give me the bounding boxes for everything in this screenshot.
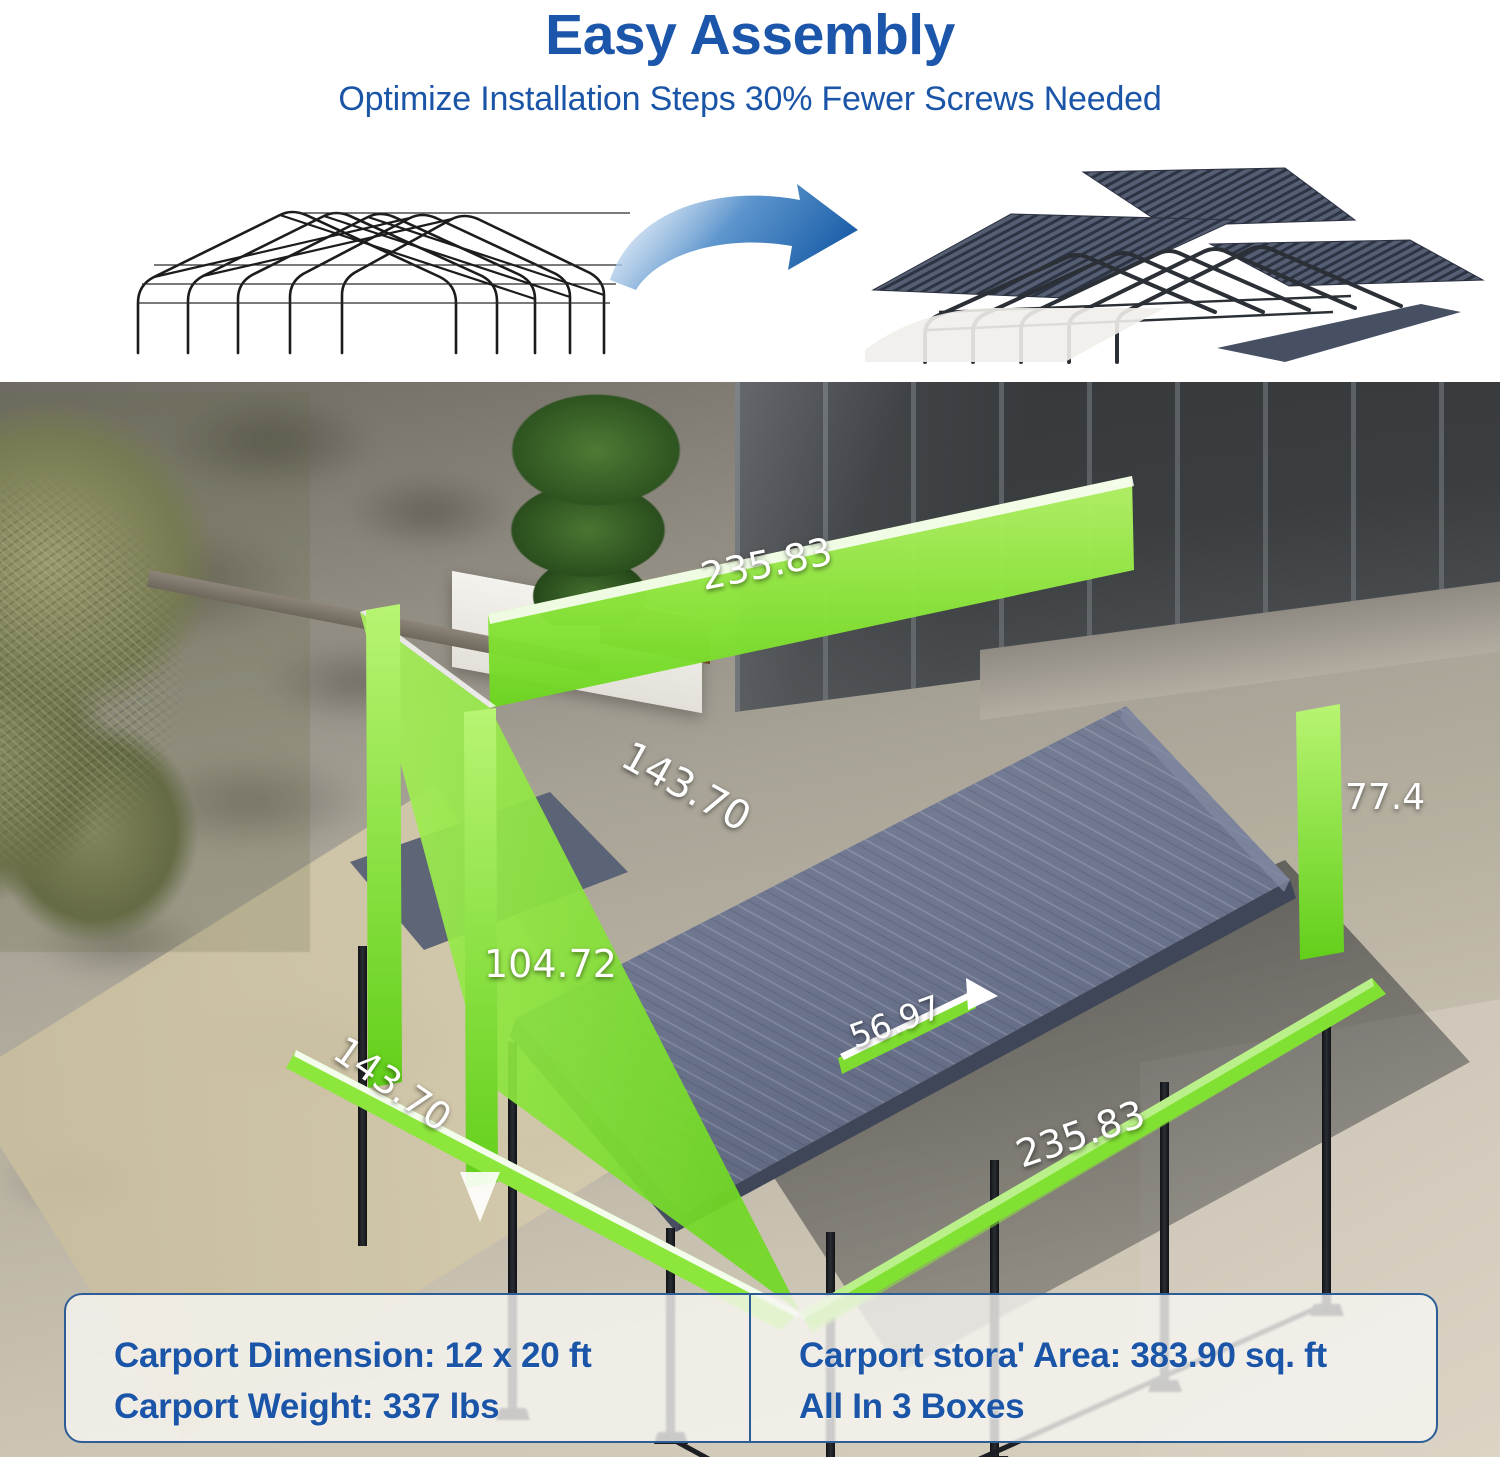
process-arrow-icon [592, 178, 892, 313]
page-title: Easy Assembly [0, 2, 1500, 68]
olive-tree-foliage-texture [0, 392, 310, 952]
spec-column-right: Carport stora' Area: 383.90 sq. ft All I… [751, 1295, 1436, 1441]
roof-panels-exploded-illustration [865, 162, 1495, 367]
spec-storage-area: Carport stora' Area: 383.90 sq. ft [799, 1335, 1436, 1376]
infographic-page: Easy Assembly Optimize Installation Step… [0, 0, 1500, 1457]
carport-frame-wireframe-illustration [110, 185, 670, 360]
spec-box-count: All In 3 Boxes [799, 1386, 1436, 1427]
spec-column-left: Carport Dimension: 12 x 20 ft Carport We… [66, 1295, 751, 1441]
spec-summary-panel: Carport Dimension: 12 x 20 ft Carport We… [64, 1293, 1438, 1443]
spec-carport-dimension: Carport Dimension: 12 x 20 ft [114, 1335, 749, 1376]
dimension-label-eave-height: 77.4 [1345, 777, 1425, 818]
spec-carport-weight: Carport Weight: 337 lbs [114, 1386, 749, 1427]
dimension-label-post-height: 104.72 [484, 942, 617, 986]
header-section: Easy Assembly Optimize Installation Step… [0, 0, 1500, 380]
page-subtitle: Optimize Installation Steps 30% Fewer Sc… [0, 80, 1500, 119]
